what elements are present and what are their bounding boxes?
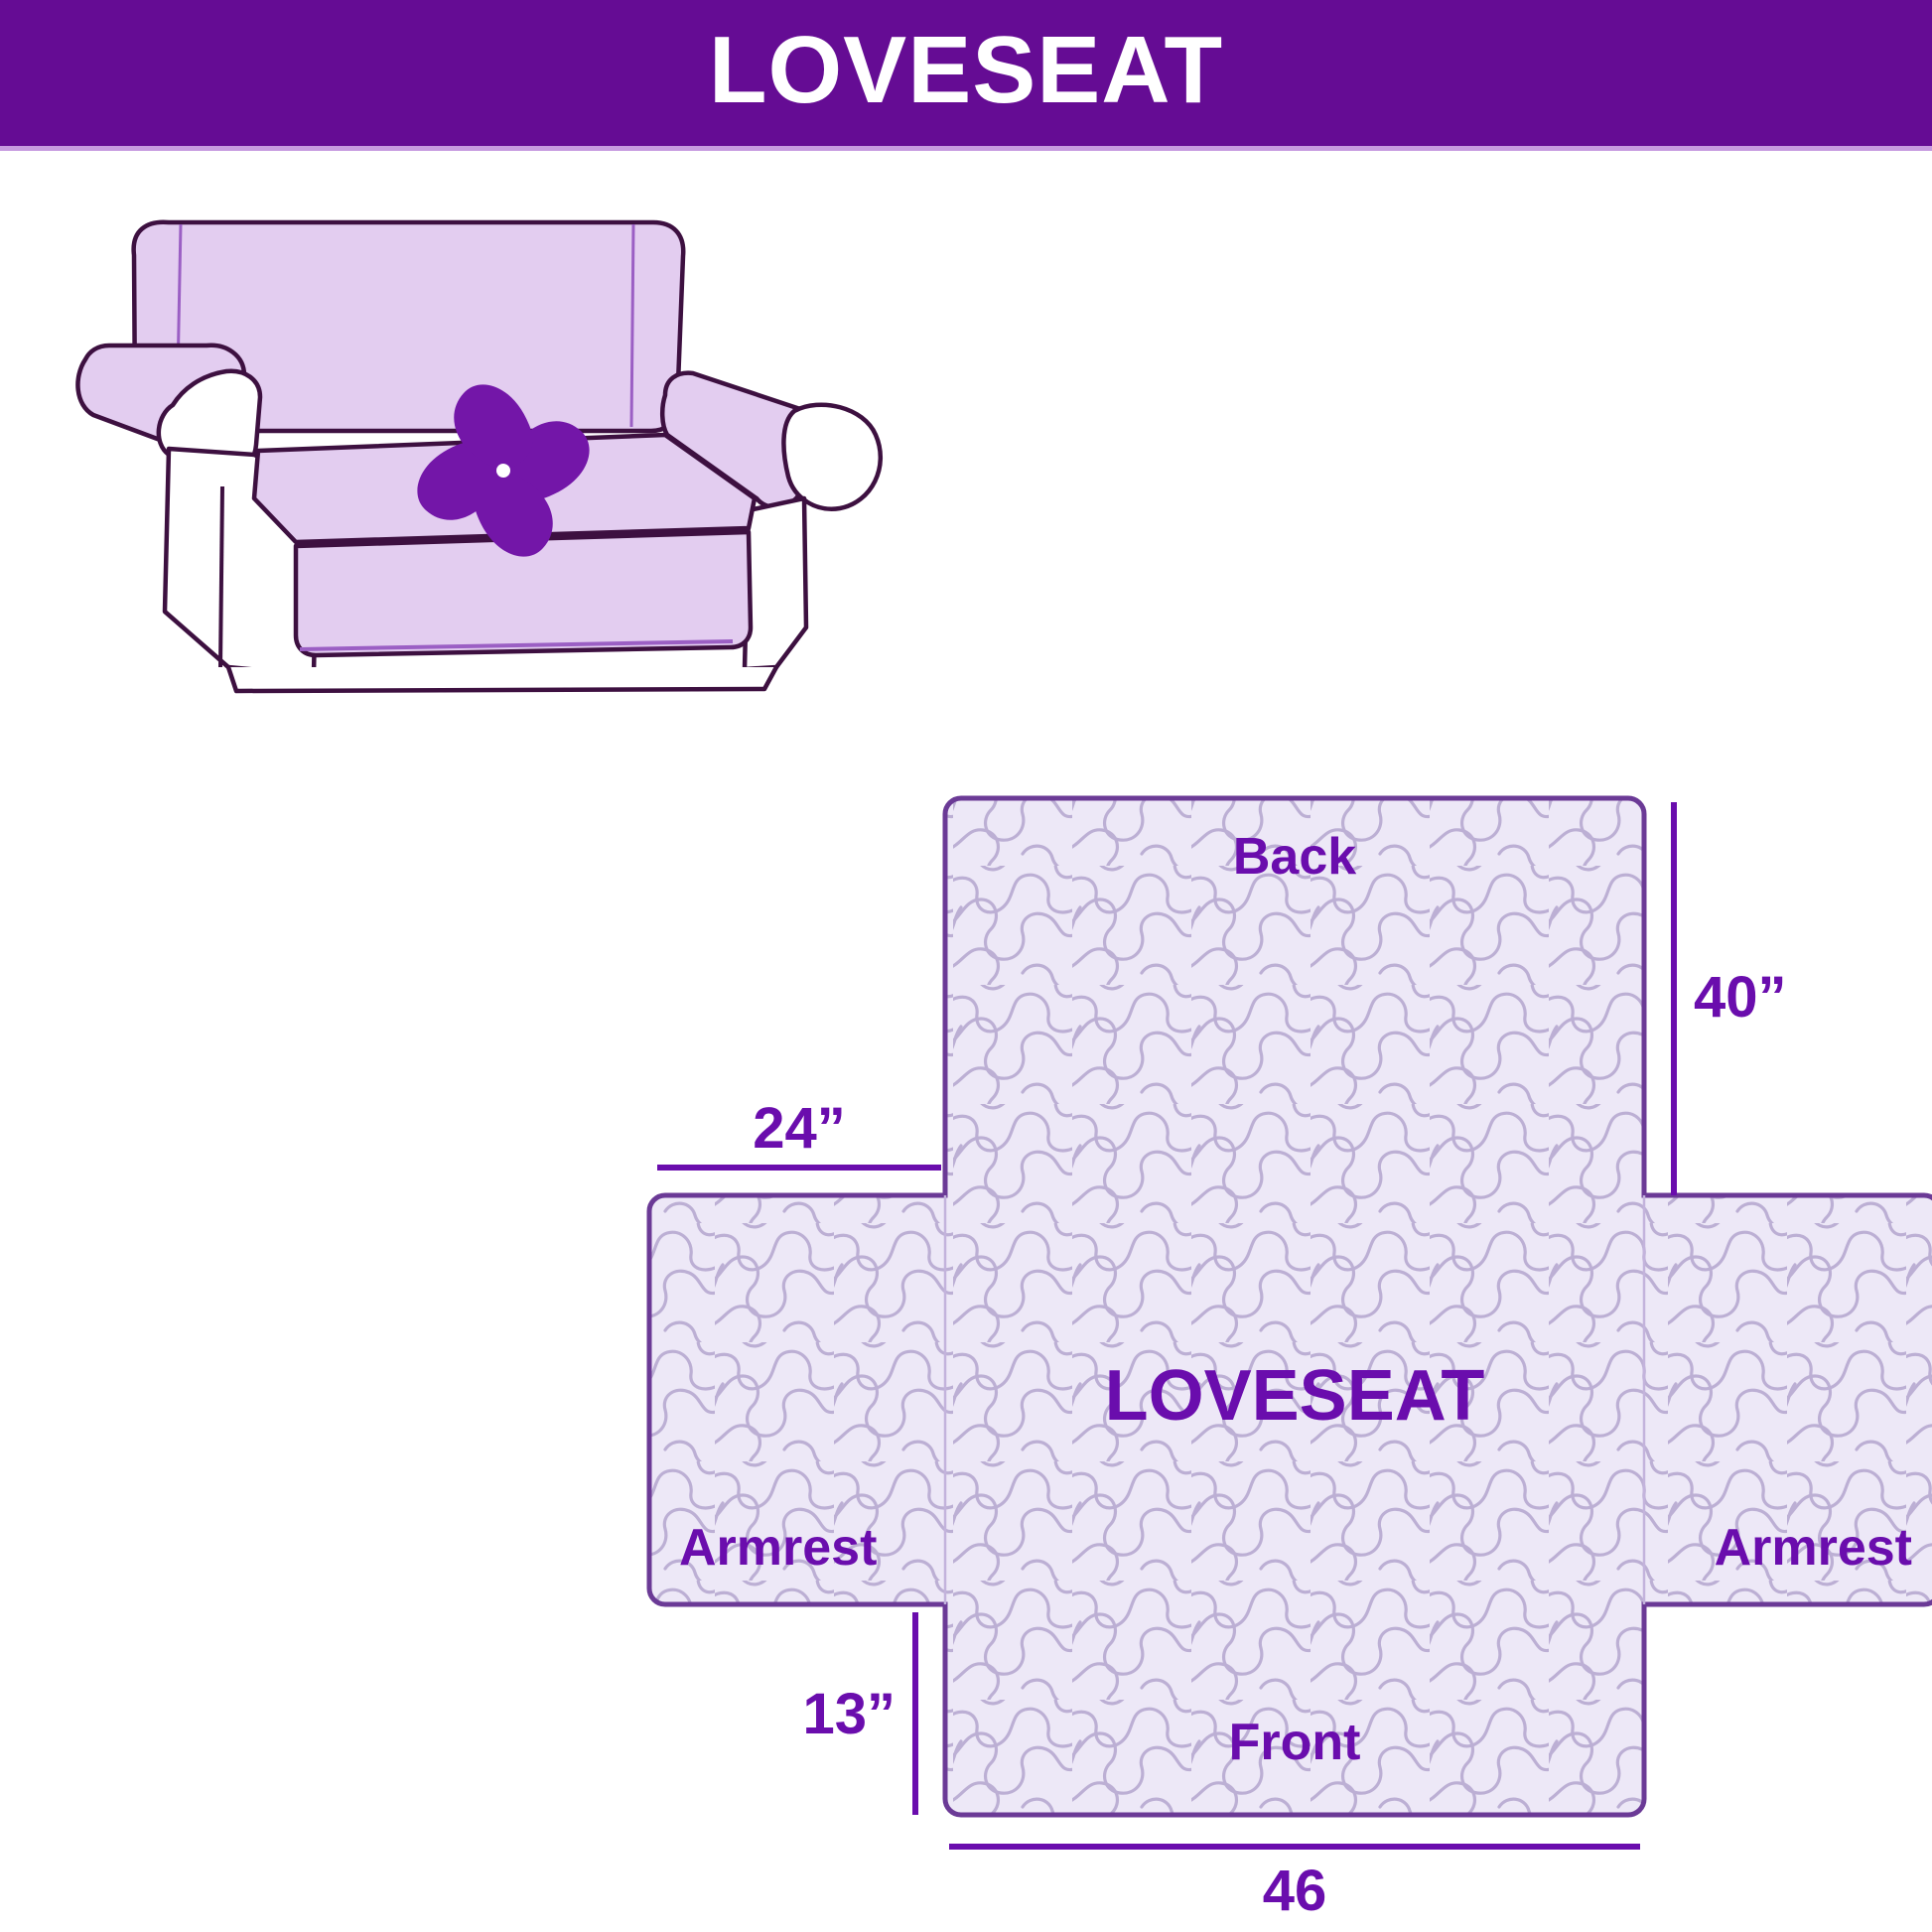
loveseat-illustration (69, 201, 923, 806)
cover-cross-outline (649, 798, 1932, 1815)
dimension-back-width: 24” (657, 1096, 941, 1168)
dimension-back-height: 40” (1674, 802, 1787, 1195)
sofa-left-side-fold (220, 486, 222, 667)
content-stage: Back LOVESEAT Armrest Armrest Front 24” … (0, 151, 1932, 1932)
panel-label-back: Back (1233, 828, 1356, 886)
sofa-bottom-rail (228, 667, 776, 691)
dimension-back-width-value: 24” (753, 1096, 846, 1161)
dimension-front-height-value: 13” (802, 1682, 896, 1746)
dimension-back-height-value: 40” (1694, 965, 1787, 1030)
panel-label-front: Front (1229, 1714, 1361, 1771)
header-banner: LOVESEAT (0, 0, 1932, 146)
dimension-front-height: 13” (802, 1612, 915, 1815)
loveseat-cover-pattern-diagram: Back LOVESEAT Armrest Armrest Front 24” … (596, 747, 1932, 1928)
dimension-front-width: 46 (949, 1847, 1640, 1923)
sofa-backrest-seam-right (631, 224, 633, 427)
sofa-right-arm-roll (783, 405, 880, 509)
panel-label-armrest-right: Armrest (1715, 1519, 1912, 1577)
center-label-loveseat: LOVESEAT (1105, 1356, 1485, 1436)
panel-label-armrest-left: Armrest (679, 1519, 877, 1577)
dimension-front-width-value: 46 (1263, 1859, 1327, 1923)
page-title: LOVESEAT (709, 23, 1223, 118)
